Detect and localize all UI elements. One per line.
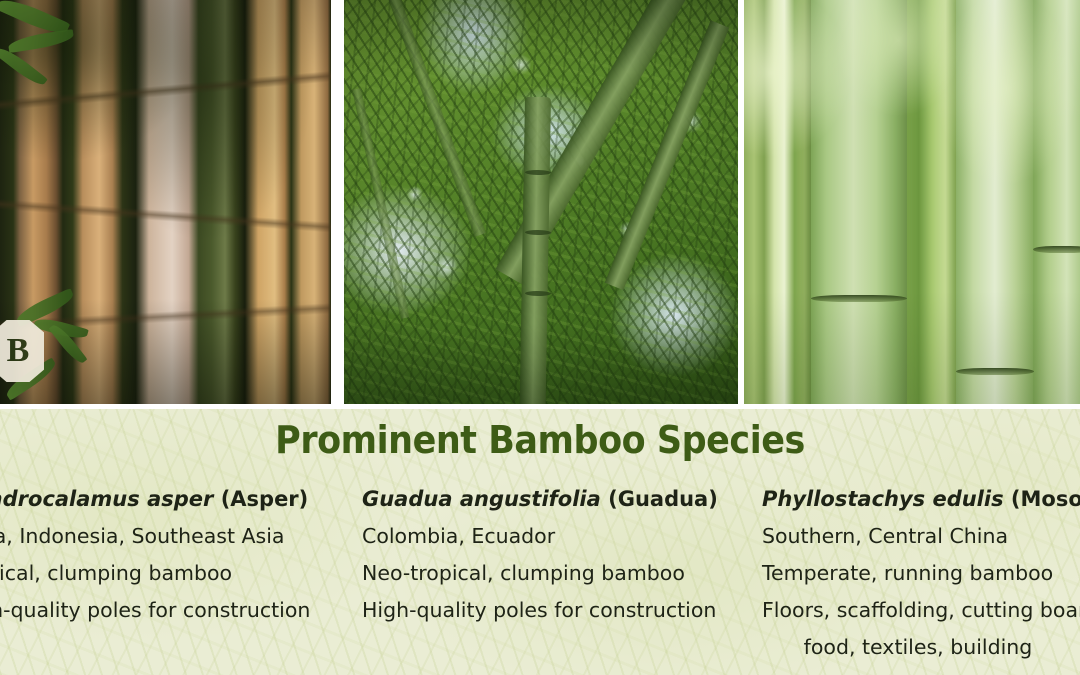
info-panel: Prominent Bamboo Species Dendrocalamus a… xyxy=(0,409,1080,675)
species-origin-moso: Southern, Central China xyxy=(762,518,1080,555)
species-columns: Dendrocalamus asper (Asper) India, Indon… xyxy=(0,481,1080,675)
guadua-image-content xyxy=(344,0,738,404)
species-type-guadua: Neo-tropical, clumping bamboo xyxy=(362,555,742,592)
species-latin-guadua: Guadua angustifolia xyxy=(362,487,601,511)
species-uses-moso: Floors, scaffolding, cutting boards, xyxy=(762,592,1080,629)
species-name-moso: Phyllostachys edulis (Moso) xyxy=(762,481,1080,518)
photo-guadua-angustifolia xyxy=(344,0,738,404)
watermark-letter: B xyxy=(7,334,30,368)
species-common-moso: (Moso) xyxy=(1011,487,1080,511)
brand-watermark-badge: B xyxy=(0,320,44,382)
species-column-guadua: Guadua angustifolia (Guadua) Colombia, E… xyxy=(362,481,742,629)
page-title: Prominent Bamboo Species xyxy=(43,418,1037,462)
species-name-asper: Dendrocalamus asper (Asper) xyxy=(0,481,348,518)
species-uses-asper: High-quality poles for construction xyxy=(0,592,348,629)
species-common-guadua: (Guadua) xyxy=(608,487,718,511)
species-latin-moso: Phyllostachys edulis xyxy=(762,487,1004,511)
species-name-guadua: Guadua angustifolia (Guadua) xyxy=(362,481,742,518)
species-origin-asper: India, Indonesia, Southeast Asia xyxy=(0,518,348,555)
species-column-asper: Dendrocalamus asper (Asper) India, Indon… xyxy=(0,481,348,629)
asper-shadow-layer xyxy=(0,0,331,404)
species-uses-guadua: High-quality poles for construction xyxy=(362,592,742,629)
bamboo-species-infographic: B xyxy=(0,0,1080,675)
photo-phyllostachys-edulis xyxy=(744,0,1080,404)
guadua-vignette xyxy=(344,0,738,404)
species-common-asper: (Asper) xyxy=(221,487,309,511)
moso-bokeh-layer xyxy=(744,0,1080,404)
species-uses-extra-moso: food, textiles, building xyxy=(762,629,1080,666)
asper-image-content: B xyxy=(0,0,331,404)
species-latin-asper: Dendrocalamus asper xyxy=(0,487,213,511)
species-origin-guadua: Colombia, Ecuador xyxy=(362,518,742,555)
species-type-asper: Tropical, clumping bamboo xyxy=(0,555,348,592)
moso-image-content xyxy=(744,0,1080,404)
photo-dendrocalamus-asper: B xyxy=(0,0,331,404)
photo-strip: B xyxy=(0,0,1080,404)
species-type-moso: Temperate, running bamboo xyxy=(762,555,1080,592)
species-column-moso: Phyllostachys edulis (Moso) Southern, Ce… xyxy=(762,481,1080,666)
